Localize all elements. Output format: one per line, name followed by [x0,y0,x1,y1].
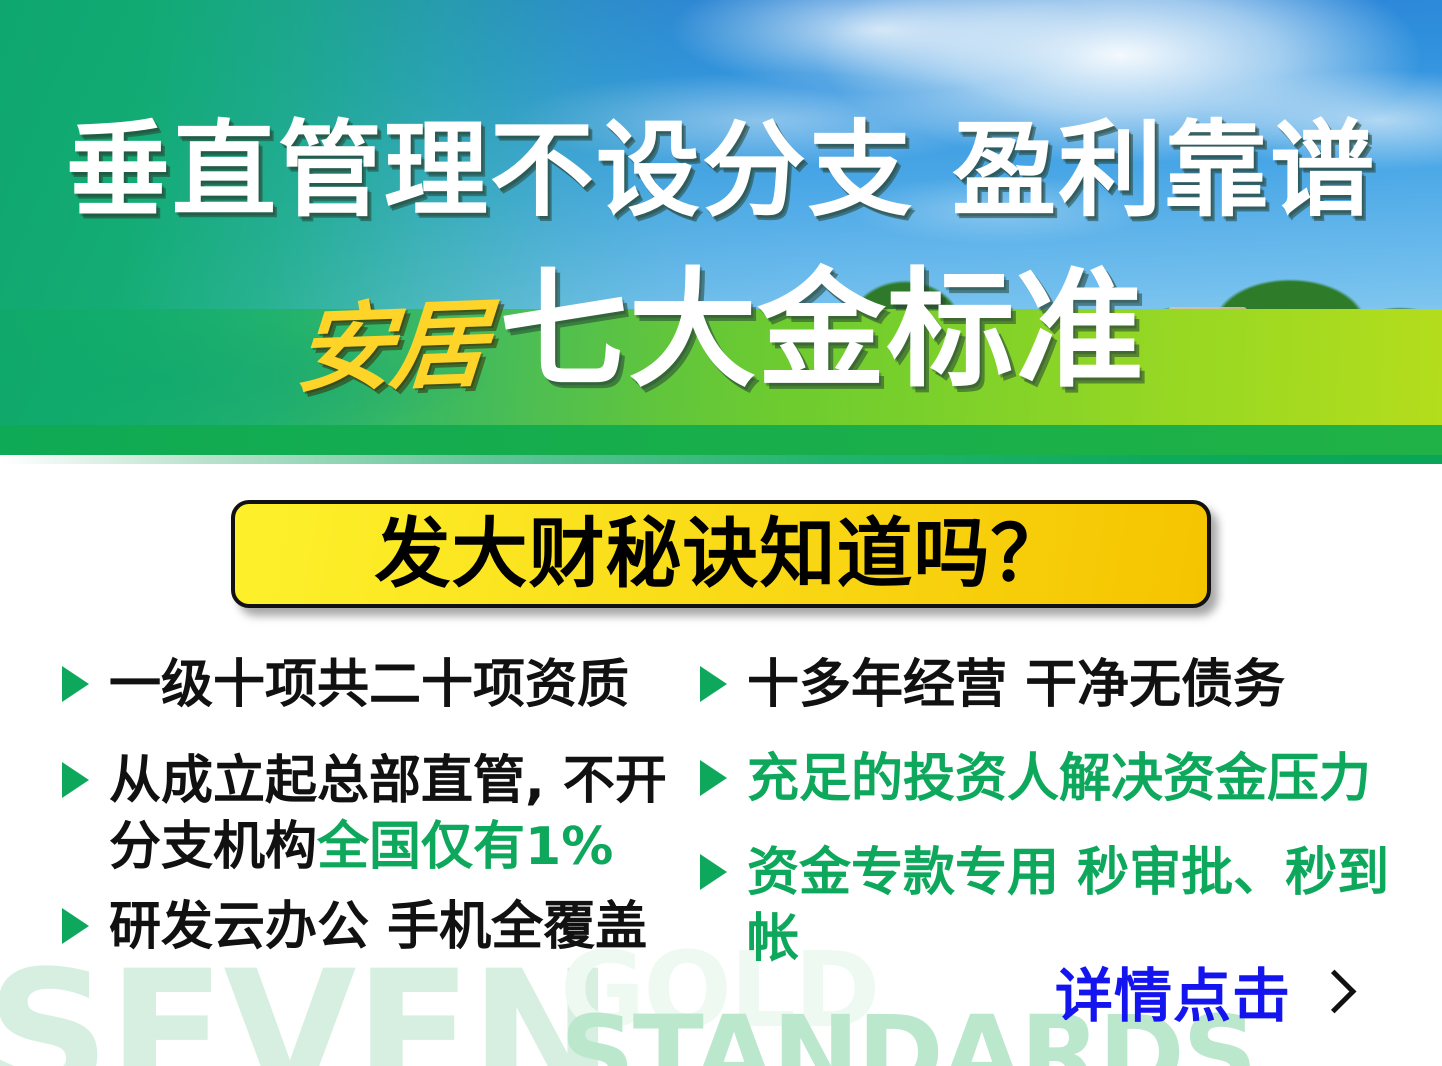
feature-text: 一级十项共二十项资质 [109,652,629,718]
details-link-button[interactable]: 详情点击 [1055,965,1347,1027]
triangle-bullet-icon [62,666,89,702]
hero-brand-word: 安居 [293,285,490,409]
chevron-right-icon [1317,970,1347,1022]
details-link-label: 详情点击 [1055,965,1291,1027]
feature-text: 研发云办公 手机全覆盖 [109,894,647,960]
list-item: 充足的投资人解决资金压力 [700,746,1420,812]
feature-text: 充足的投资人解决资金压力 [747,746,1371,812]
hero-headline-top: 垂直管理不设分支 盈利靠谱 [0,118,1442,222]
feature-text-line2-plain: 分支机构 [109,817,317,877]
triangle-bullet-icon [700,666,727,702]
triangle-bullet-icon [700,854,727,890]
list-item: 一级十项共二十项资质 [62,652,702,718]
list-item: 研发云办公 手机全覆盖 [62,894,702,960]
hero-underline-stripe [0,455,1442,464]
feature-text: 从成立起总部直管, 不开 分支机构全国仅有1% [109,748,667,880]
headline-callout-text: 发大财秘诀知道吗？ [375,515,1068,593]
promo-banner: 垂直管理不设分支 盈利靠谱 安居七大金标准 SEVEN GOLD STANDAR… [0,0,1442,1066]
feature-text: 资金专款专用 秒审批、秒到帐 [747,840,1420,972]
hero-headline-main-row: 安居七大金标准 [0,272,1442,429]
features-column-left: 一级十项共二十项资质 从成立起总部直管, 不开 分支机构全国仅有1% 研发云办公… [62,652,702,978]
list-item: 从成立起总部直管, 不开 分支机构全国仅有1% [62,748,702,880]
feature-text-line2: 分支机构全国仅有1% [109,814,667,880]
list-item: 资金专款专用 秒审批、秒到帐 [700,840,1420,972]
triangle-bullet-icon [62,762,89,798]
feature-text-line1: 从成立起总部直管, 不开 [109,748,667,814]
features-section: 一级十项共二十项资质 从成立起总部直管, 不开 分支机构全国仅有1% 研发云办公… [0,652,1442,1012]
hero-headline-main: 七大金标准 [499,272,1144,390]
feature-text: 十多年经营 干净无债务 [747,652,1285,718]
list-item: 十多年经营 干净无债务 [700,652,1420,718]
hero-bottom-green-bar [0,425,1442,455]
headline-callout-banner[interactable]: 发大财秘诀知道吗？ [231,500,1211,608]
feature-text-highlight: 全国仅有1% [317,817,613,877]
triangle-bullet-icon [700,760,727,796]
triangle-bullet-icon [62,908,89,944]
features-column-right: 十多年经营 干净无债务 充足的投资人解决资金压力 资金专款专用 秒审批、秒到帐 [700,652,1420,990]
